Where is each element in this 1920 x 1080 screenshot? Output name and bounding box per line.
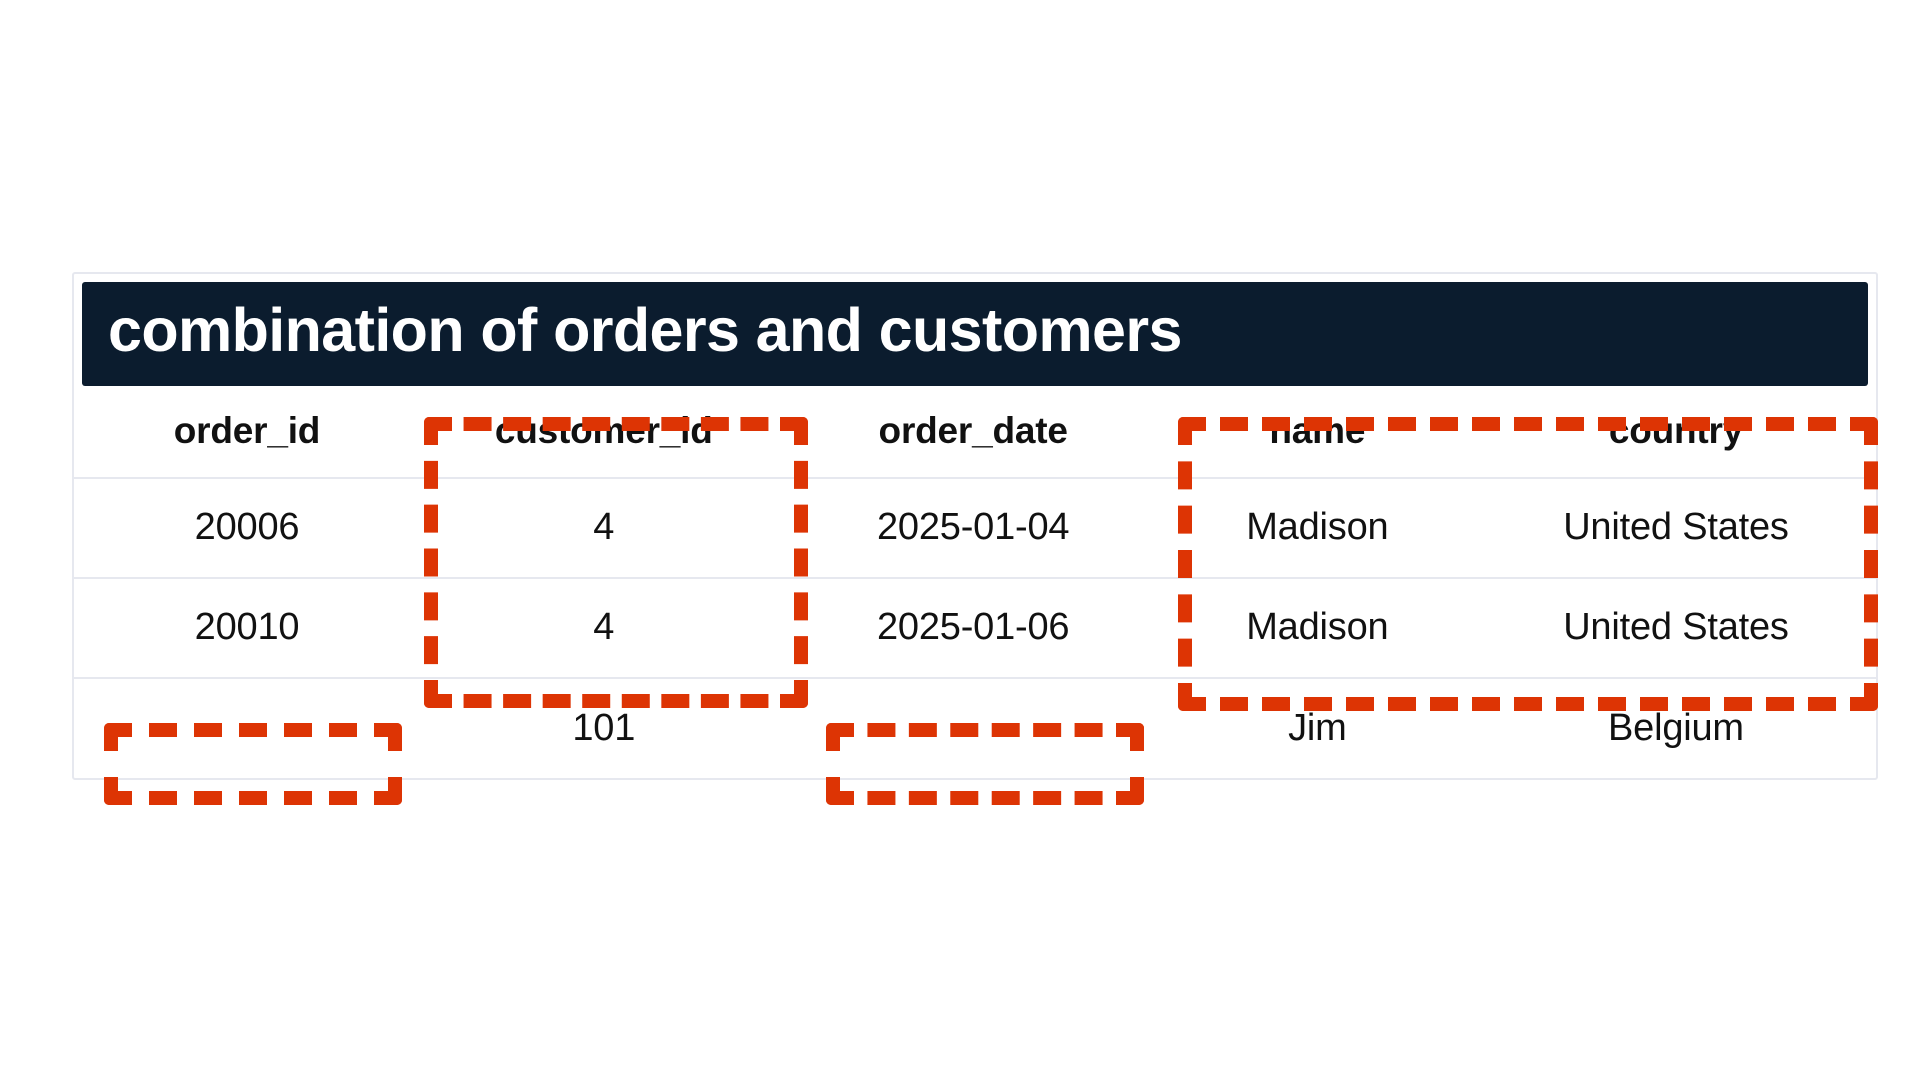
results-table: order_id customer_id order_date name cou… bbox=[74, 386, 1876, 778]
cell-customer-id: 4 bbox=[420, 478, 788, 578]
column-header-order-id[interactable]: order_id bbox=[74, 386, 420, 478]
table-row: 20010 4 2025-01-06 Madison United States bbox=[74, 578, 1876, 678]
result-table-card: combination of orders and customers orde… bbox=[72, 272, 1878, 780]
table-title-bar: combination of orders and customers bbox=[82, 282, 1868, 386]
cell-order-id: 20006 bbox=[74, 478, 420, 578]
page-root: combination of orders and customers orde… bbox=[0, 0, 1920, 1080]
cell-country: United States bbox=[1476, 578, 1876, 678]
cell-customer-id: 101 bbox=[420, 678, 788, 778]
cell-country: United States bbox=[1476, 478, 1876, 578]
cell-customer-id: 4 bbox=[420, 578, 788, 678]
table-row: 20006 4 2025-01-04 Madison United States bbox=[74, 478, 1876, 578]
cell-name: Madison bbox=[1159, 478, 1476, 578]
column-header-name[interactable]: name bbox=[1159, 386, 1476, 478]
column-header-customer-id[interactable]: customer_id bbox=[420, 386, 788, 478]
cell-name: Madison bbox=[1159, 578, 1476, 678]
table-row: 101 Jim Belgium bbox=[74, 678, 1876, 778]
cell-name: Jim bbox=[1159, 678, 1476, 778]
column-header-country[interactable]: country bbox=[1476, 386, 1876, 478]
cell-order-id bbox=[74, 678, 420, 778]
page-title: combination of orders and customers bbox=[108, 298, 1842, 364]
cell-order-date: 2025-01-04 bbox=[788, 478, 1159, 578]
table-body: 20006 4 2025-01-04 Madison United States… bbox=[74, 478, 1876, 778]
cell-country: Belgium bbox=[1476, 678, 1876, 778]
cell-order-date bbox=[788, 678, 1159, 778]
cell-order-id: 20010 bbox=[74, 578, 420, 678]
table-header: order_id customer_id order_date name cou… bbox=[74, 386, 1876, 478]
table-header-row: order_id customer_id order_date name cou… bbox=[74, 386, 1876, 478]
column-header-order-date[interactable]: order_date bbox=[788, 386, 1159, 478]
cell-order-date: 2025-01-06 bbox=[788, 578, 1159, 678]
